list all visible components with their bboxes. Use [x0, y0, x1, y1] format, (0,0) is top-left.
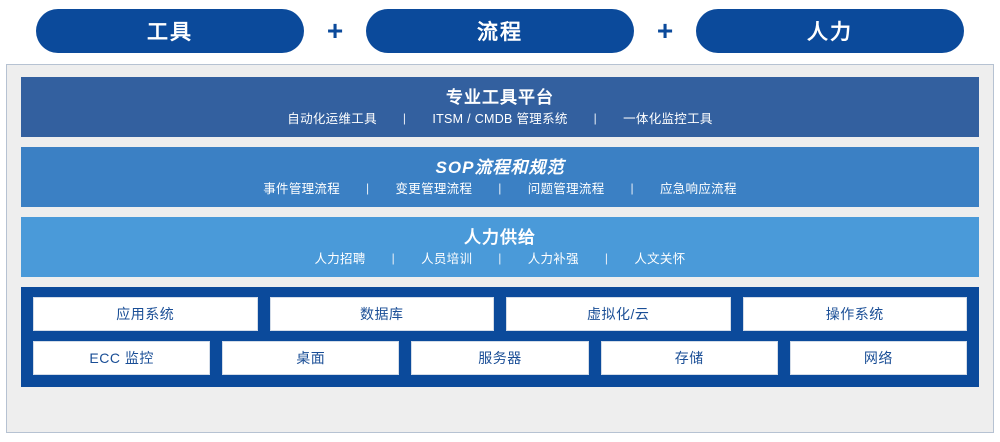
layer-item-manpower-0: 人力招聘	[314, 251, 365, 267]
pill-tools-label: 工具	[147, 16, 193, 46]
plus-operator-icon-1: +	[304, 17, 366, 45]
layer-item-manpower-2: 人力补强	[528, 251, 579, 267]
layer-band-tools[interactable]: 专业工具平台 自动化运维工具 | ITSM / CMDB 管理系统 | 一体化监…	[21, 77, 979, 137]
plus-operator-icon-2: +	[634, 17, 696, 45]
layer-item-tools-0: 自动化运维工具	[287, 111, 377, 127]
layer-band-manpower[interactable]: 人力供给 人力招聘 | 人员培训 | 人力补强 | 人文关怀	[21, 217, 979, 277]
pill-manpower[interactable]: 人力	[696, 9, 964, 53]
item-separator: |	[472, 251, 527, 267]
architecture-panel: 专业工具平台 自动化运维工具 | ITSM / CMDB 管理系统 | 一体化监…	[6, 64, 994, 433]
infra-box-desktop[interactable]: 桌面	[222, 341, 399, 375]
diagram-root: 工具 + 流程 + 人力 专业工具平台 自动化运维工具 | ITSM / CMD…	[0, 0, 1000, 442]
layer-item-tools-2: 一体化监控工具	[623, 111, 713, 127]
header-formula-row: 工具 + 流程 + 人力	[0, 0, 1000, 62]
layer-items-manpower: 人力招聘 | 人员培训 | 人力补强 | 人文关怀	[314, 251, 685, 267]
infra-box-application-system[interactable]: 应用系统	[33, 297, 258, 331]
pill-manpower-label: 人力	[807, 16, 853, 46]
infrastructure-row-2: ECC 监控 桌面 服务器 存储 网络	[33, 341, 967, 375]
item-separator: |	[366, 251, 421, 267]
pill-process[interactable]: 流程	[366, 9, 634, 53]
layer-item-tools-1: ITSM / CMDB 管理系统	[432, 111, 567, 127]
item-separator: |	[568, 111, 623, 127]
infrastructure-container: 应用系统 数据库 虚拟化/云 操作系统 ECC 监控 桌面 服务器 存储 网络	[21, 287, 979, 387]
item-separator: |	[340, 181, 395, 197]
item-separator: |	[377, 111, 432, 127]
pill-tools[interactable]: 工具	[36, 9, 304, 53]
item-separator: |	[605, 181, 660, 197]
layer-items-sop: 事件管理流程 | 变更管理流程 | 问题管理流程 | 应急响应流程	[263, 181, 737, 197]
layer-item-sop-2: 问题管理流程	[528, 181, 605, 197]
infra-box-virtualization-cloud[interactable]: 虚拟化/云	[506, 297, 731, 331]
layer-title-tools: 专业工具平台	[446, 87, 554, 108]
item-separator: |	[472, 181, 527, 197]
infra-box-storage[interactable]: 存储	[601, 341, 778, 375]
layer-title-manpower: 人力供给	[464, 227, 536, 248]
layer-band-sop[interactable]: SOP流程和规范 事件管理流程 | 变更管理流程 | 问题管理流程 | 应急响应…	[21, 147, 979, 207]
infra-box-database[interactable]: 数据库	[270, 297, 495, 331]
layer-item-manpower-3: 人文关怀	[634, 251, 685, 267]
item-separator: |	[579, 251, 634, 267]
layer-items-tools: 自动化运维工具 | ITSM / CMDB 管理系统 | 一体化监控工具	[287, 111, 712, 127]
infra-box-server[interactable]: 服务器	[411, 341, 588, 375]
layer-item-sop-1: 变更管理流程	[395, 181, 472, 197]
pill-process-label: 流程	[477, 16, 523, 46]
infra-box-network[interactable]: 网络	[790, 341, 967, 375]
layer-item-sop-3: 应急响应流程	[660, 181, 737, 197]
infra-box-operating-system[interactable]: 操作系统	[743, 297, 968, 331]
infrastructure-row-1: 应用系统 数据库 虚拟化/云 操作系统	[33, 297, 967, 331]
infra-box-ecc-monitoring[interactable]: ECC 监控	[33, 341, 210, 375]
layer-item-manpower-1: 人员培训	[421, 251, 472, 267]
layer-title-sop: SOP流程和规范	[436, 157, 565, 178]
layer-item-sop-0: 事件管理流程	[263, 181, 340, 197]
